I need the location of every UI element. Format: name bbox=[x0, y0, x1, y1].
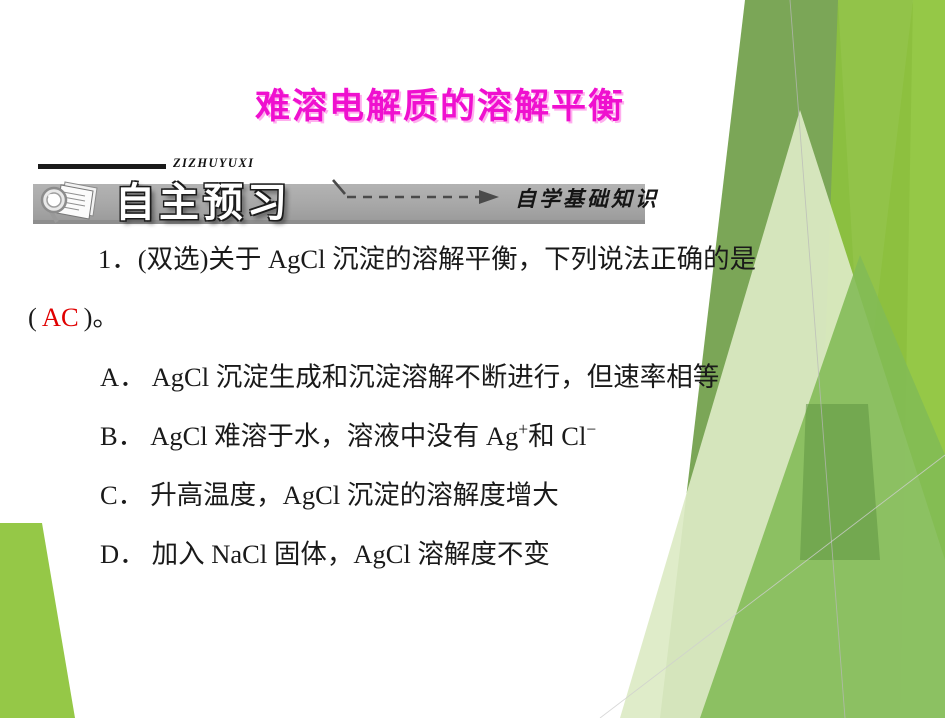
magnifier-documents-icon bbox=[37, 178, 111, 226]
option-b-label: B． bbox=[100, 421, 144, 451]
slide-canvas: 难溶电解质的溶解平衡 ZIZHUYUXI 自主 bbox=[0, 0, 945, 718]
option-c-text: 升高温度，AgCl 沉淀的溶解度增大 bbox=[150, 480, 559, 510]
option-b: B．AgCl 难溶于水，溶液中没有 Ag+和 Cl− bbox=[0, 423, 945, 482]
question-block: 1．(双选)关于 AgCl 沉淀的溶解平衡，下列说法正确的是 (AC)。 A．A… bbox=[0, 246, 945, 568]
option-d: D．加入 NaCl 固体，AgCl 溶解度不变 bbox=[0, 541, 945, 568]
option-b-superscript-plus: + bbox=[518, 419, 528, 439]
answer-paren-close: )。 bbox=[84, 302, 119, 332]
slide-title: 难溶电解质的溶解平衡 bbox=[0, 78, 880, 129]
answer-key: AC bbox=[37, 302, 84, 332]
option-b-superscript-minus: − bbox=[586, 419, 596, 439]
option-d-text: 加入 NaCl 固体，AgCl 溶解度不变 bbox=[152, 539, 550, 569]
option-c-label: C． bbox=[100, 480, 144, 510]
question-number: 1． bbox=[98, 244, 138, 274]
option-a-label: A． bbox=[100, 362, 146, 392]
banner-rule bbox=[38, 164, 166, 169]
dashed-arrow-icon bbox=[329, 176, 509, 216]
section-banner: ZIZHUYUXI 自主预习 bbox=[33, 156, 645, 232]
question-answer-line: (AC)。 bbox=[0, 304, 945, 364]
banner-heading: 自主预习 bbox=[115, 170, 291, 228]
option-a-text: AgCl 沉淀生成和沉淀溶解不断进行，但速率相等 bbox=[152, 362, 720, 392]
option-b-text-middle: 和 Cl bbox=[528, 421, 586, 451]
option-b-text-before: AgCl 难溶于水，溶液中没有 Ag bbox=[150, 421, 518, 451]
answer-paren-open: ( bbox=[28, 302, 37, 332]
banner-pinyin-label: ZIZHUYUXI bbox=[173, 156, 254, 171]
banner-subtitle: 自学基础知识 bbox=[515, 183, 659, 213]
question-stem-text: 关于 AgCl 沉淀的溶解平衡，下列说法正确的是 bbox=[208, 244, 756, 274]
option-a: A．AgCl 沉淀生成和沉淀溶解不断进行，但速率相等 bbox=[0, 364, 945, 423]
option-d-label: D． bbox=[100, 539, 146, 569]
question-stem-line: 1．(双选)关于 AgCl 沉淀的溶解平衡，下列说法正确的是 bbox=[0, 246, 945, 304]
option-c: C．升高温度，AgCl 沉淀的溶解度增大 bbox=[0, 482, 945, 541]
question-tag: (双选) bbox=[138, 244, 209, 274]
